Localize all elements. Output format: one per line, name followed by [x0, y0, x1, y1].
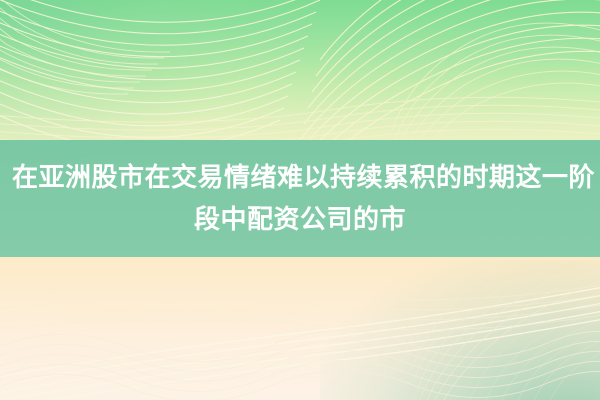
top-left-green-wash — [0, 0, 280, 160]
banner-image: 在亚洲股市在交易情绪难以持续累积的时期这一阶 段中配资公司的市 — [0, 0, 600, 400]
headline-line-2: 段中配资公司的市 — [10, 199, 590, 241]
headline-line-1: 在亚洲股市在交易情绪难以持续累积的时期这一阶 — [10, 157, 590, 199]
headline-container: 在亚洲股市在交易情绪难以持续累积的时期这一阶 段中配资公司的市 — [0, 140, 600, 257]
bottom-right-green-wash — [320, 260, 600, 400]
